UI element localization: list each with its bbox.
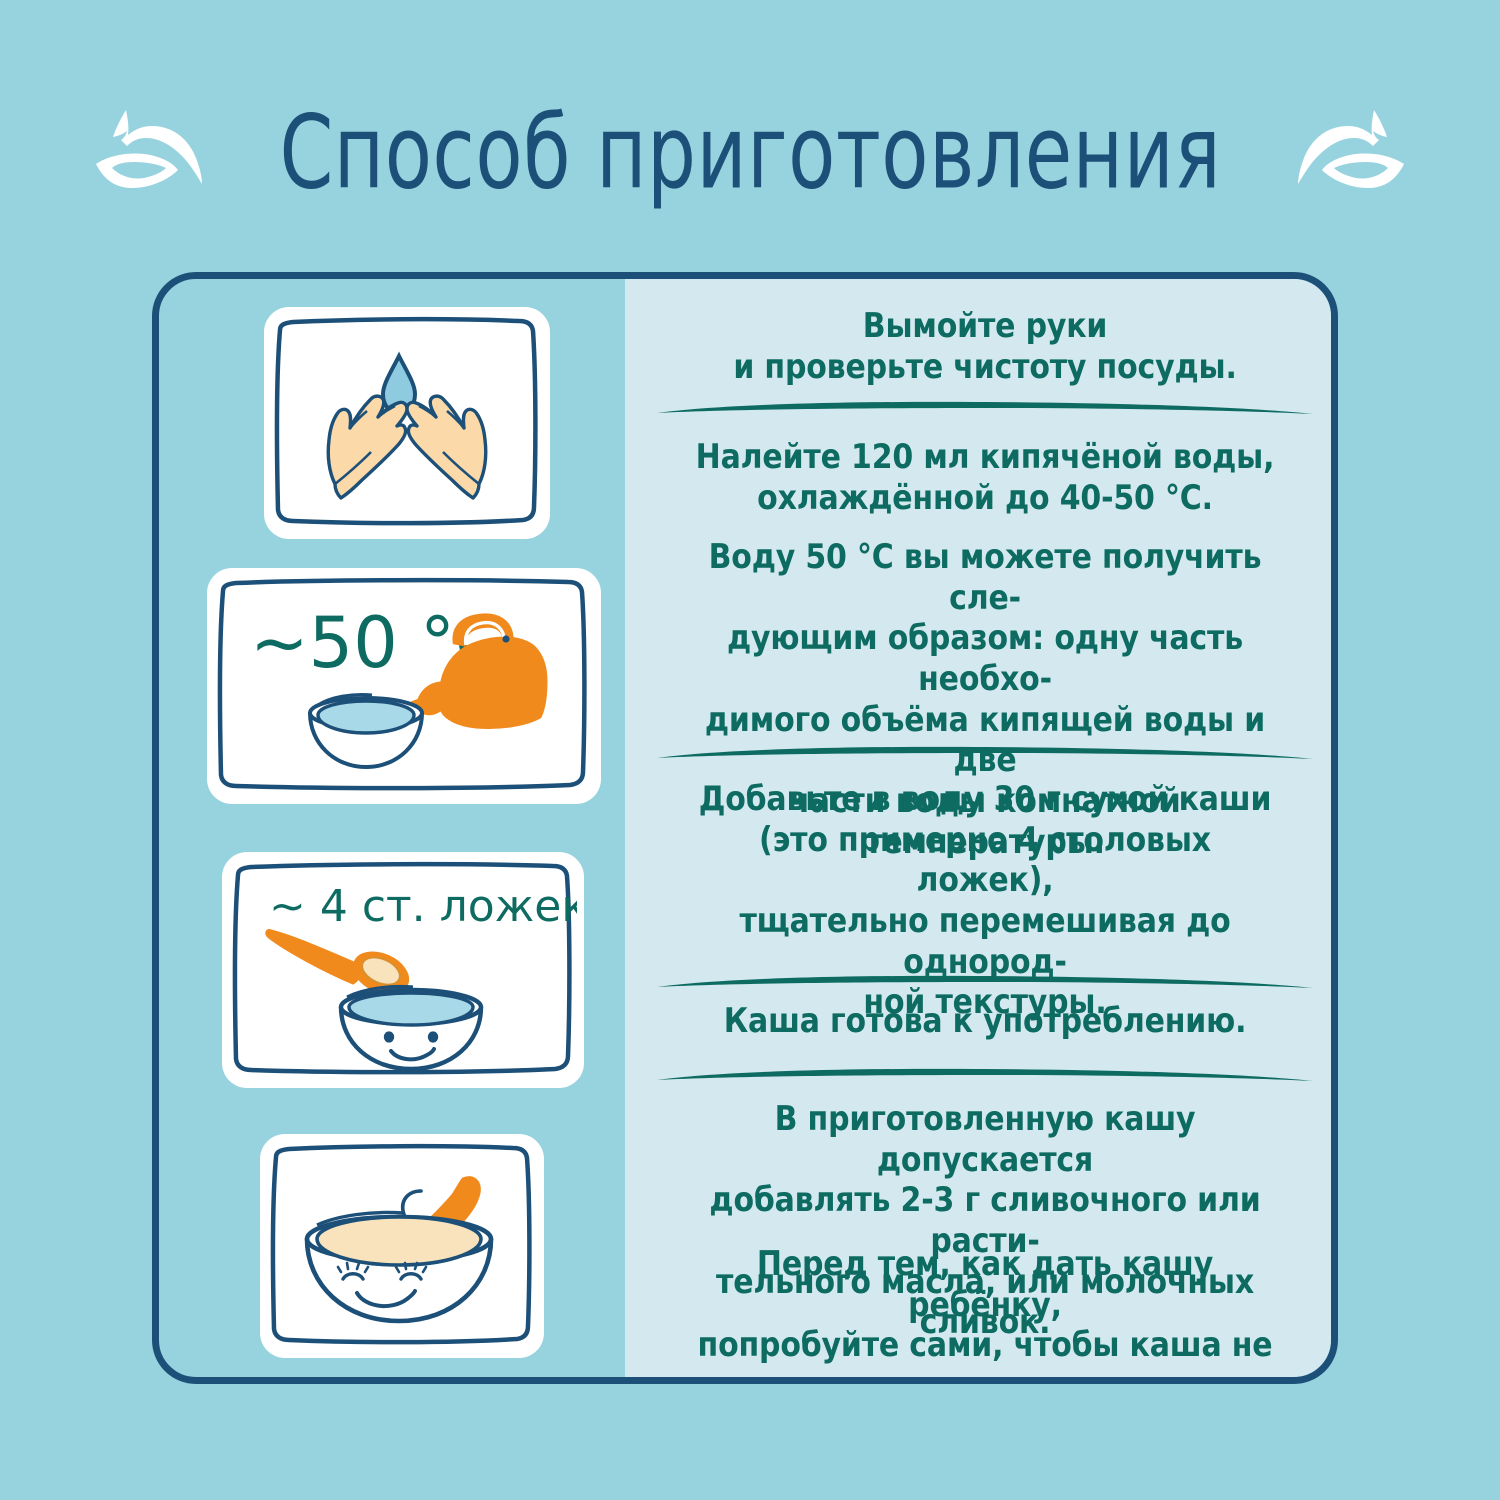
ready-porridge-card <box>267 1141 537 1351</box>
divider-1 <box>655 397 1315 421</box>
step-text-7: Перед тем, как дать кашу ребёнку, попроб… <box>686 1244 1284 1384</box>
spoon-measure-card: ~ 4 ст. ложек <box>229 859 577 1081</box>
step-text-2: Налейте 120 мл кипячёной воды, охлаждённ… <box>686 437 1284 518</box>
smiling-bowl-with-stirring-spoon-icon <box>267 1141 537 1351</box>
hands-with-water-drop-icon <box>271 314 543 532</box>
spoon-count-label: ~ 4 ст. ложек <box>269 881 577 932</box>
step-text-1: Вымойте руки и проверьте чистоту посуды. <box>686 306 1284 387</box>
leaf-swirl-icon <box>1290 104 1408 200</box>
wash-hands-card <box>271 314 543 532</box>
kettle-pouring-into-bowl-icon: ~50 °C <box>214 575 594 797</box>
divider-4 <box>655 1064 1315 1088</box>
step-text-5: Каша готова к употреблению. <box>686 1001 1284 1042</box>
leaf-swirl-icon <box>92 104 210 200</box>
instructions-panel: ~50 °C <box>152 272 1338 1384</box>
divider-3 <box>655 971 1315 995</box>
water-temperature-card: ~50 °C <box>214 575 594 797</box>
title-row: Способ приготовления <box>0 92 1500 212</box>
illustrations-column: ~50 °C <box>159 279 625 1380</box>
steps-column: Вымойте руки и проверьте чистоту посуды.… <box>625 279 1338 1380</box>
divider-2 <box>655 742 1315 766</box>
page-title: Способ приготовления <box>279 101 1221 202</box>
spoon-pouring-powder-into-smiling-bowl-icon: ~ 4 ст. ложек <box>229 859 577 1081</box>
